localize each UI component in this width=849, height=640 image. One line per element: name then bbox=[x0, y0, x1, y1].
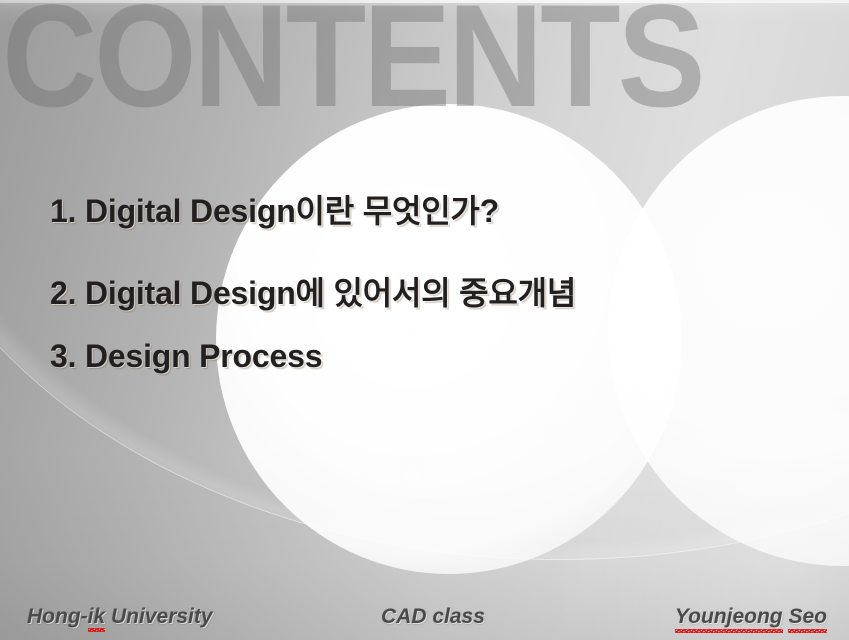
footer-institution-prefix: Hong- bbox=[27, 605, 88, 628]
footer-author: Younjeong Seo bbox=[675, 605, 827, 629]
footer-course: CAD class bbox=[381, 605, 485, 629]
contents-list: 1. Digital Design이란 무엇인가? 2. Digital Des… bbox=[50, 186, 810, 375]
footer-institution-suffix: University bbox=[105, 605, 212, 628]
slide-footer: Hong-ik University CAD class Younjeong S… bbox=[0, 594, 849, 634]
list-item: 1. Digital Design이란 무엇인가? bbox=[50, 186, 810, 232]
footer-institution-misspelled: ik bbox=[88, 605, 106, 629]
presentation-slide: CONTENTS 1. Digital Design이란 무엇인가? 2. Di… bbox=[0, 0, 849, 640]
slide-title-watermark: CONTENTS bbox=[2, 0, 702, 130]
list-item: 3. Design Process bbox=[50, 338, 810, 375]
footer-author-last-name: Seo bbox=[788, 605, 827, 629]
footer-author-first-name: Younjeong bbox=[675, 605, 783, 629]
list-item: 2. Digital Design에 있어서의 중요개념 bbox=[50, 268, 810, 314]
footer-institution: Hong-ik University bbox=[27, 605, 213, 629]
